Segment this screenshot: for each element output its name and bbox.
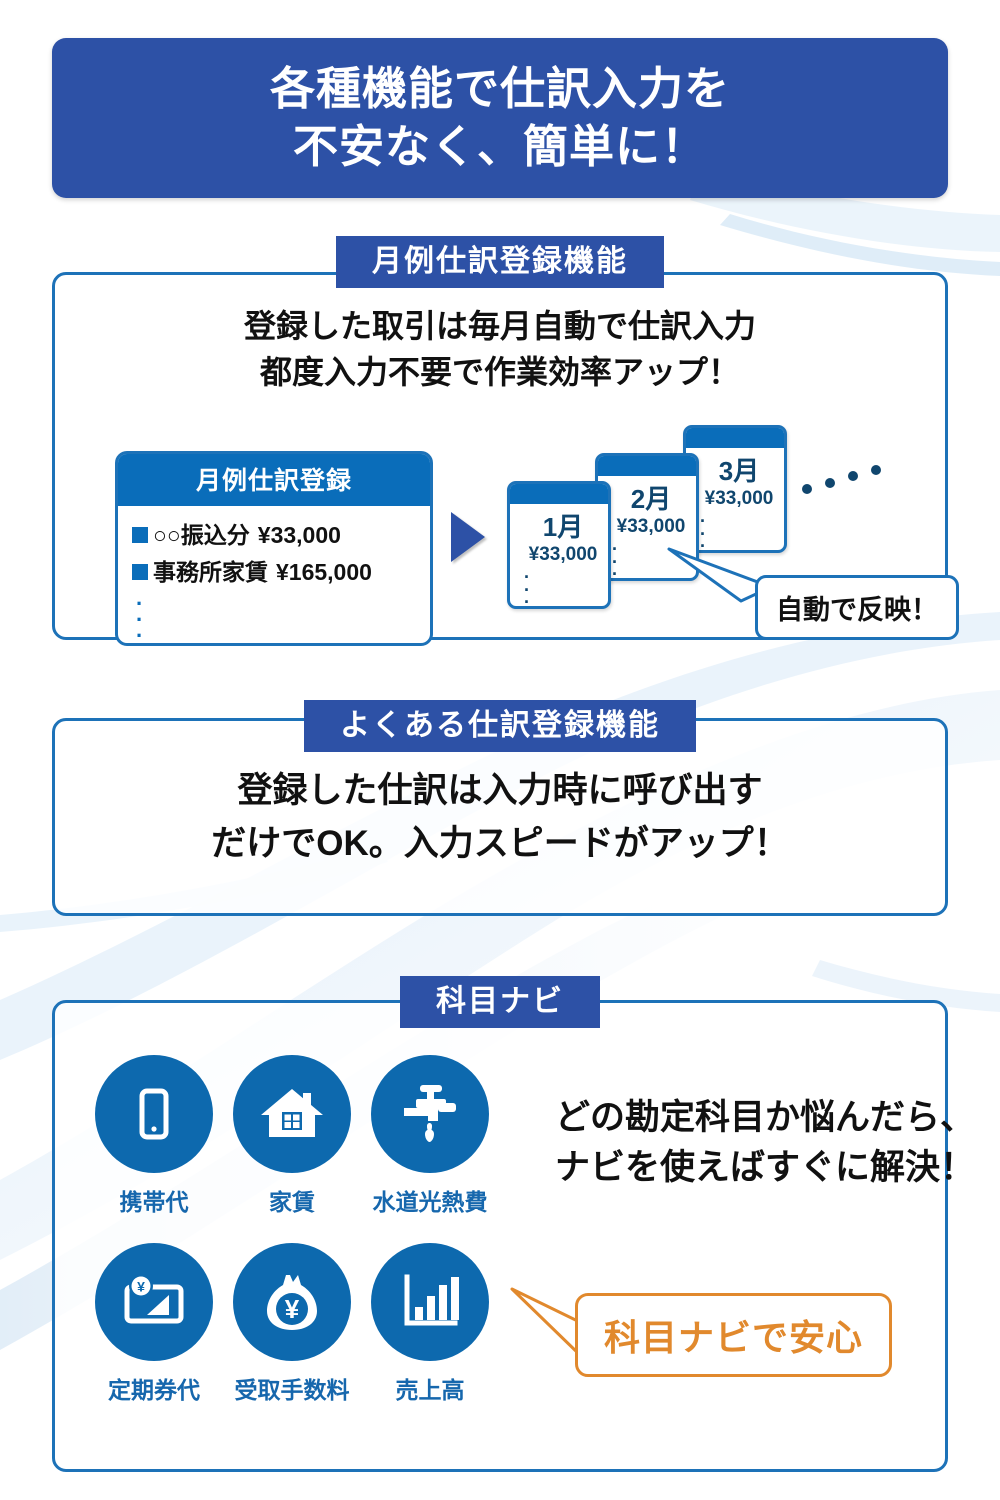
registration-row-label: 事務所家賃: [153, 553, 268, 587]
account-category-icon-grid: 携帯代 家賃: [85, 1055, 499, 1431]
callout-navi-reassurance: 科目ナビで安心: [575, 1293, 892, 1377]
commuter-pass-icon: ¥: [119, 1271, 189, 1333]
section-card-monthly: 登録した取引は毎月自動で仕訳入力 都度入力不要で作業効率アップ！ 月例仕訳登録 …: [52, 272, 948, 640]
icon-label: 水道光熱費: [373, 1183, 488, 1217]
registration-row-amount: ¥165,000: [276, 559, 372, 586]
flow-arrow-right-icon: [451, 512, 485, 562]
svg-text:¥: ¥: [137, 1279, 145, 1295]
icon-circle: ¥: [233, 1243, 351, 1361]
month-card-body: 1月 ¥33,000 ...: [510, 504, 608, 609]
frequent-body-line1: 登録した仕訳は入力時に呼び出す: [55, 765, 945, 818]
month-card-month: 1月: [518, 507, 608, 544]
continuation-dots-icon: [799, 461, 899, 501]
registration-row: 事務所家賃 ¥165,000: [132, 553, 418, 587]
month-card-body: 3月 ¥33,000 ...: [686, 448, 784, 553]
icon-cell-sales[interactable]: 売上高: [361, 1243, 499, 1431]
icon-circle: [371, 1243, 489, 1361]
poster-root: 各種機能で仕訳入力を 不安なく、簡単に！ 登録した取引は毎月自動で仕訳入力 都度…: [0, 0, 1000, 1500]
money-bag-yen-icon: ¥: [259, 1269, 325, 1335]
month-card: 1月 ¥33,000 ...: [507, 481, 611, 609]
bar-chart-icon: [397, 1271, 463, 1333]
frequent-body-text: 登録した仕訳は入力時に呼び出す だけでOK。入力スピードがアップ！: [55, 765, 945, 870]
monthly-body-line1: 登録した取引は毎月自動で仕訳入力: [55, 303, 945, 349]
month-card-amount: ¥33,000: [518, 544, 608, 566]
navi-body-line1: どの勘定科目か悩んだら、: [555, 1093, 975, 1143]
month-card-header-bar: [598, 456, 696, 476]
month-card-month: 2月: [606, 479, 696, 516]
icon-label: 携帯代: [120, 1183, 189, 1217]
monthly-body-line2: 都度入力不要で作業効率アップ！: [55, 349, 945, 395]
month-card-amount: ¥33,000: [694, 488, 784, 510]
bullet-square-icon: [132, 527, 148, 543]
faucet-icon: [394, 1079, 466, 1149]
header-title-line1: 各種機能で仕訳入力を: [270, 60, 730, 119]
month-card-header-bar: [686, 428, 784, 448]
navi-body-line2: ナビを使えばすぐに解決！: [555, 1143, 975, 1193]
frequent-body-line2: だけでOK。入力スピードがアップ！: [55, 818, 945, 871]
icon-cell-utilities[interactable]: 水道光熱費: [361, 1055, 499, 1243]
month-card-ellipsis-icon: ...: [518, 566, 608, 604]
month-card-amount: ¥33,000: [606, 516, 696, 538]
bullet-square-icon: [132, 564, 148, 580]
smartphone-icon: [123, 1083, 185, 1145]
svg-text:¥: ¥: [285, 1294, 300, 1324]
header-title-line2: 不安なく、簡単に！: [293, 118, 707, 177]
month-card-month: 3月: [694, 451, 784, 488]
header-banner: 各種機能で仕訳入力を 不安なく、簡単に！: [52, 38, 948, 198]
icon-circle: [95, 1055, 213, 1173]
icon-cell-rent[interactable]: 家賃: [223, 1055, 361, 1243]
icon-circle: ¥: [95, 1243, 213, 1361]
icon-label: 受取手数料: [235, 1371, 350, 1405]
section-tab-monthly[interactable]: 月例仕訳登録機能: [336, 236, 664, 288]
month-card-header-bar: [510, 484, 608, 504]
house-icon: [257, 1081, 327, 1147]
registration-more-ellipsis-icon: ...: [136, 590, 418, 637]
navi-body-text: どの勘定科目か悩んだら、 ナビを使えばすぐに解決！: [555, 1093, 975, 1192]
icon-label: 家賃: [269, 1183, 315, 1217]
registration-panel-rows: ○○振込分 ¥33,000 事務所家賃 ¥165,000 ...: [118, 506, 430, 643]
callout-auto-reflect: 自動で反映！: [755, 575, 959, 640]
registration-row-label: ○○振込分: [153, 516, 250, 550]
icon-circle: [371, 1055, 489, 1173]
icon-cell-commission[interactable]: ¥ 受取手数料: [223, 1243, 361, 1431]
monthly-registration-panel: 月例仕訳登録 ○○振込分 ¥33,000 事務所家賃 ¥165,000 ...: [115, 451, 433, 646]
registration-row: ○○振込分 ¥33,000: [132, 516, 418, 550]
section-card-navi: 携帯代 家賃: [52, 1000, 948, 1472]
icon-cell-commuter-pass[interactable]: ¥ 定期券代: [85, 1243, 223, 1431]
registration-panel-title: 月例仕訳登録: [118, 454, 430, 506]
icon-label: 売上高: [396, 1371, 465, 1405]
registration-row-amount: ¥33,000: [258, 522, 341, 549]
monthly-body-text: 登録した取引は毎月自動で仕訳入力 都度入力不要で作業効率アップ！: [55, 303, 945, 396]
icon-label: 定期券代: [108, 1371, 200, 1405]
icon-circle: [233, 1055, 351, 1173]
icon-cell-mobile[interactable]: 携帯代: [85, 1055, 223, 1243]
section-tab-navi[interactable]: 科目ナビ: [400, 976, 600, 1028]
section-tab-frequent[interactable]: よくある仕訳登録機能: [304, 700, 696, 752]
